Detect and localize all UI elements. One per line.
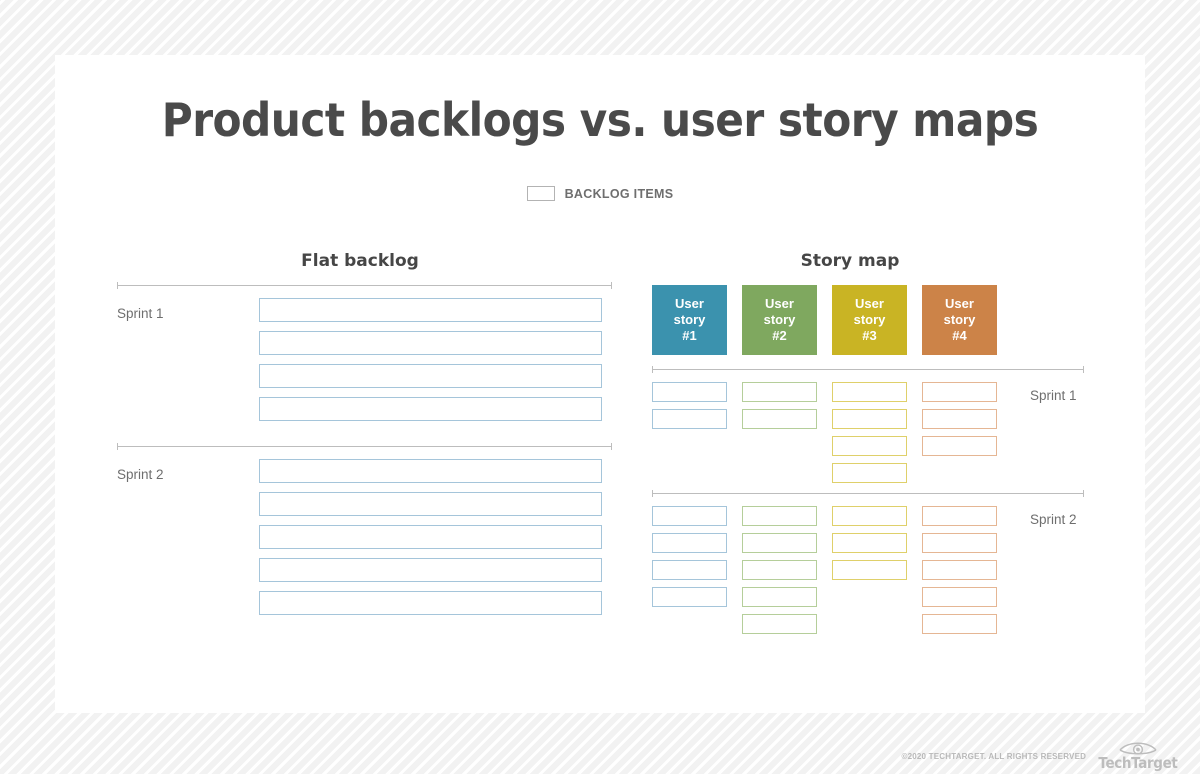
flat-backlog-sprint-2: Sprint 2 (117, 447, 612, 615)
infographic-page: Product backlogs vs. user story maps BAC… (0, 0, 1200, 774)
user-story-card-text: #3 (862, 328, 876, 344)
story-map-panel: Userstory#1Userstory#2Userstory#3Usersto… (652, 285, 1092, 644)
story-map-column-1 (652, 506, 727, 607)
story-map-column-4 (922, 506, 997, 634)
techtarget-logo: TechTarget (1094, 740, 1182, 772)
story-map-column-3 (832, 506, 907, 580)
story-map-item[interactable] (832, 560, 907, 580)
backlog-item-swatch-icon (527, 186, 555, 201)
story-map-item[interactable] (652, 506, 727, 526)
story-map-item[interactable] (922, 382, 997, 402)
user-story-card-3[interactable]: Userstory#3 (832, 285, 907, 355)
user-story-card-text: User (855, 296, 884, 312)
story-map-column-2 (742, 382, 817, 429)
story-map-item[interactable] (922, 614, 997, 634)
story-map-item[interactable] (742, 382, 817, 402)
story-map-sprint-1-label: Sprint 1 (1030, 388, 1077, 403)
story-map-item[interactable] (742, 533, 817, 553)
backlog-item[interactable] (259, 558, 602, 582)
content-card: Product backlogs vs. user story maps BAC… (55, 55, 1145, 713)
backlog-item[interactable] (259, 459, 602, 483)
story-map-item[interactable] (742, 409, 817, 429)
story-map-column-4 (922, 382, 997, 456)
story-map-item[interactable] (652, 382, 727, 402)
story-map-item[interactable] (922, 587, 997, 607)
story-map-sprint-2-columns (652, 506, 1092, 634)
user-story-card-text: story (944, 312, 976, 328)
user-story-card-1[interactable]: Userstory#1 (652, 285, 727, 355)
flat-backlog-sprint-2-items (259, 459, 602, 615)
story-map-item[interactable] (832, 506, 907, 526)
user-story-card-text: User (765, 296, 794, 312)
backlog-item[interactable] (259, 397, 602, 421)
story-map-column-3 (832, 382, 907, 483)
backlog-item[interactable] (259, 492, 602, 516)
story-map-column-1 (652, 382, 727, 429)
story-map-item[interactable] (652, 560, 727, 580)
user-story-cards: Userstory#1Userstory#2Userstory#3Usersto… (652, 285, 1092, 355)
story-map-column-2 (742, 506, 817, 634)
user-story-card-4[interactable]: Userstory#4 (922, 285, 997, 355)
backlog-item[interactable] (259, 364, 602, 388)
flat-backlog-sprint-1-items (259, 298, 602, 421)
flat-backlog-panel: Sprint 1 Sprint 2 (117, 285, 612, 624)
story-map-sprint-1-columns (652, 382, 1092, 483)
page-title: Product backlogs vs. user story maps (99, 93, 1102, 147)
flat-backlog-sprint-1-label: Sprint 1 (117, 306, 164, 321)
legend: BACKLOG ITEMS (55, 186, 1145, 201)
story-map-sprint-1: Sprint 1 (652, 370, 1092, 493)
story-map-item[interactable] (922, 436, 997, 456)
user-story-card-text: story (674, 312, 706, 328)
story-map-item[interactable] (652, 409, 727, 429)
story-map-sprint-2-label: Sprint 2 (1030, 512, 1077, 527)
story-map-item[interactable] (832, 409, 907, 429)
story-map-item[interactable] (742, 506, 817, 526)
story-map-item[interactable] (742, 560, 817, 580)
flat-backlog-heading: Flat backlog (235, 251, 485, 271)
story-map-item[interactable] (922, 560, 997, 580)
footer: ©2020 TECHTARGET. ALL RIGHTS RESERVED Te… (0, 740, 1200, 772)
backlog-item[interactable] (259, 591, 602, 615)
story-map-item[interactable] (832, 436, 907, 456)
story-map-item[interactable] (652, 533, 727, 553)
story-map-sprint-2: Sprint 2 (652, 494, 1092, 644)
user-story-card-text: User (945, 296, 974, 312)
story-map-item[interactable] (832, 382, 907, 402)
user-story-card-text: #1 (682, 328, 696, 344)
story-map-item[interactable] (652, 587, 727, 607)
backlog-item[interactable] (259, 525, 602, 549)
story-map-item[interactable] (742, 587, 817, 607)
user-story-card-text: User (675, 296, 704, 312)
legend-label: BACKLOG ITEMS (565, 187, 674, 201)
copyright-text: ©2020 TECHTARGET. ALL RIGHTS RESERVED (902, 752, 1087, 761)
story-map-item[interactable] (922, 533, 997, 553)
backlog-item[interactable] (259, 331, 602, 355)
story-map-item[interactable] (922, 506, 997, 526)
user-story-card-text: #4 (952, 328, 966, 344)
flat-backlog-sprint-1: Sprint 1 (117, 286, 612, 421)
user-story-card-text: story (764, 312, 796, 328)
story-map-item[interactable] (922, 409, 997, 429)
story-map-heading: Story map (695, 251, 1005, 271)
story-map-item[interactable] (742, 614, 817, 634)
techtarget-wordmark: TechTarget (1099, 754, 1178, 772)
story-map-item[interactable] (832, 533, 907, 553)
flat-backlog-sprint-2-label: Sprint 2 (117, 467, 164, 482)
user-story-card-text: #2 (772, 328, 786, 344)
user-story-card-text: story (854, 312, 886, 328)
story-map-item[interactable] (832, 463, 907, 483)
backlog-item[interactable] (259, 298, 602, 322)
flat-backlog-gap (117, 430, 612, 446)
user-story-card-2[interactable]: Userstory#2 (742, 285, 817, 355)
